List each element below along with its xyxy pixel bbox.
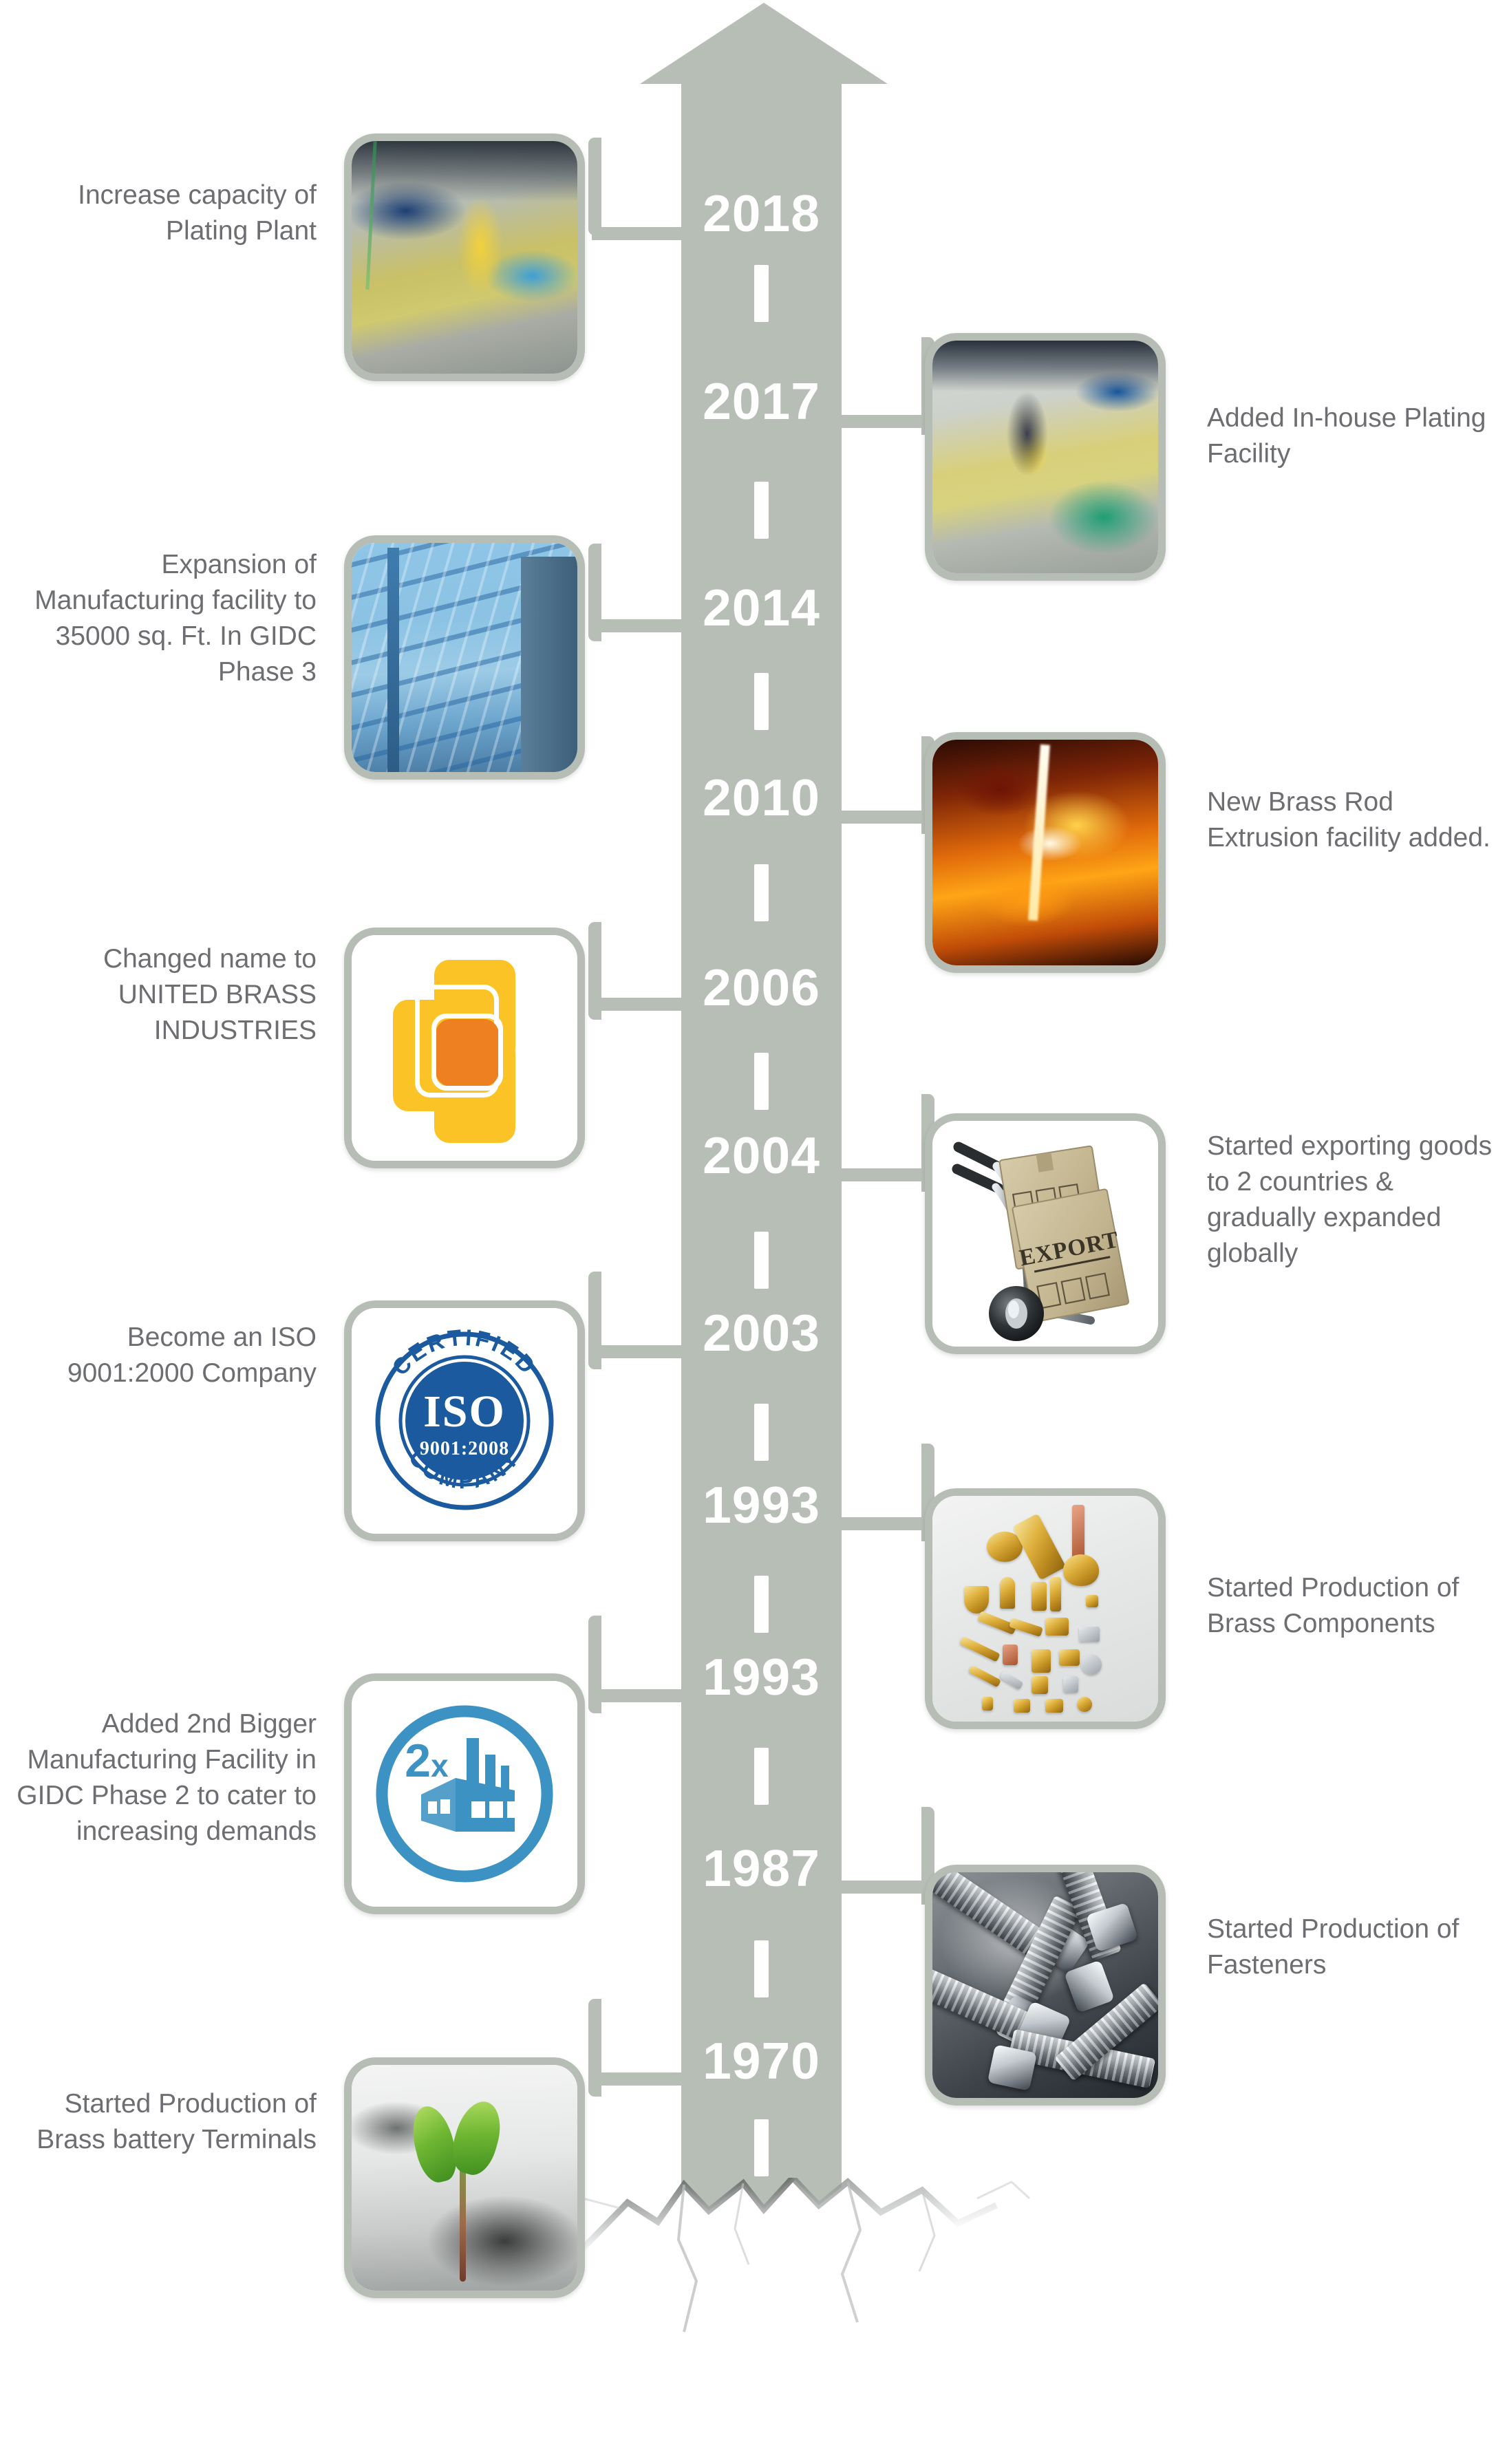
connector-elbow — [588, 1272, 601, 1369]
connector-elbow — [588, 544, 601, 641]
connector-line — [592, 1345, 681, 1358]
connector-line — [842, 1517, 931, 1530]
year-label: 2010 — [681, 772, 842, 824]
year-label: 2018 — [681, 188, 842, 239]
milestone-caption: Changed name to UNITED BRASS INDUSTRIES — [34, 941, 317, 1049]
year-label: 1993 — [681, 1651, 842, 1703]
united-brass-industries-logo — [352, 935, 577, 1161]
year-label: 2003 — [681, 1307, 842, 1359]
connector-line — [592, 998, 681, 1011]
milestone-media-card[interactable] — [344, 535, 585, 780]
tick-mark — [754, 2119, 769, 2176]
tick-mark — [754, 265, 769, 322]
svg-text:2x: 2x — [405, 1735, 449, 1787]
year-label: 2017 — [681, 376, 842, 427]
tick-mark — [754, 482, 769, 539]
in-house-plating-facility-photo — [932, 341, 1158, 573]
milestone-caption: New Brass Rod Extrusion facility added. — [1207, 784, 1496, 856]
milestone-caption: Started Production of Brass battery Term… — [34, 2086, 317, 2158]
milestone-caption: Increase capacity of Plating Plant — [34, 178, 317, 249]
connector-line — [592, 2072, 681, 2086]
svg-text:ISO: ISO — [423, 1386, 506, 1437]
tick-mark — [754, 1053, 769, 1110]
steel-fasteners-photo — [932, 1872, 1158, 2098]
milestone-caption: Become an ISO 9001:2000 Company — [34, 1320, 317, 1391]
plating-plant-photo — [352, 141, 577, 374]
connector-line — [592, 227, 681, 240]
tick-mark — [754, 864, 769, 921]
milestone-caption: Started Production of Fasteners — [1207, 1911, 1496, 1983]
tick-mark — [754, 1404, 769, 1461]
double-factory-capacity-icon: 2x — [352, 1681, 577, 1907]
connector-elbow — [588, 1999, 601, 2097]
tick-mark — [754, 1576, 769, 1633]
milestone-caption: Expansion of Manufacturing facility to 3… — [21, 547, 317, 689]
connector-line — [842, 415, 931, 428]
milestone-media-card[interactable] — [925, 333, 1166, 581]
tick-mark — [754, 1748, 769, 1805]
milestone-media-card[interactable] — [344, 928, 585, 1168]
year-label: 1970 — [681, 2035, 842, 2087]
year-label: 1993 — [681, 1479, 842, 1531]
brass-components-photo — [932, 1496, 1158, 1722]
milestone-media-card[interactable]: 2x — [344, 1673, 585, 1914]
milestone-caption: Added In-house Plating Facility — [1207, 400, 1496, 472]
connector-elbow — [588, 138, 601, 235]
iso-certified-company-badge: CERTIFIED COMPANY ISO 9001:2008 — [352, 1308, 577, 1534]
connector-line — [842, 1168, 931, 1181]
connector-line — [842, 1881, 931, 1894]
connector-line — [592, 1689, 681, 1702]
molten-brass-pour-photo — [932, 740, 1158, 965]
arrow-up-icon — [640, 3, 888, 84]
year-label: 2006 — [681, 962, 842, 1014]
milestone-media-card[interactable] — [925, 732, 1166, 973]
year-label: 1987 — [681, 1843, 842, 1894]
tick-mark — [754, 1232, 769, 1289]
year-label: 2004 — [681, 1130, 842, 1181]
milestone-caption: Started exporting goods to 2 countries &… — [1207, 1128, 1496, 1271]
logo-outline-small — [431, 1014, 503, 1091]
milestone-caption: Added 2nd Bigger Manufacturing Facility … — [14, 1706, 317, 1849]
milestone-caption: Started Production of Brass Components — [1207, 1570, 1503, 1642]
milestone-media-card[interactable] — [925, 1488, 1166, 1729]
seedling-in-soil-photo — [352, 2065, 577, 2291]
milestone-media-card[interactable] — [344, 2057, 585, 2298]
milestone-media-card[interactable] — [344, 133, 585, 381]
milestone-media-card[interactable]: EXPORT — [925, 1113, 1166, 1354]
tick-mark — [754, 673, 769, 730]
cracked-ground-icon — [537, 2178, 1032, 2377]
tick-mark — [754, 1940, 769, 1997]
year-label: 2014 — [681, 582, 842, 634]
connector-line — [842, 811, 931, 824]
connector-line — [592, 619, 681, 632]
export-hand-truck-icon: EXPORT — [932, 1121, 1158, 1347]
svg-text:9001:2008: 9001:2008 — [420, 1438, 509, 1459]
milestone-media-card[interactable]: CERTIFIED COMPANY ISO 9001:2008 — [344, 1300, 585, 1541]
connector-elbow — [588, 922, 601, 1020]
connector-elbow — [588, 1616, 601, 1713]
steel-structure-building-photo — [352, 543, 577, 772]
milestone-media-card[interactable] — [925, 1865, 1166, 2106]
